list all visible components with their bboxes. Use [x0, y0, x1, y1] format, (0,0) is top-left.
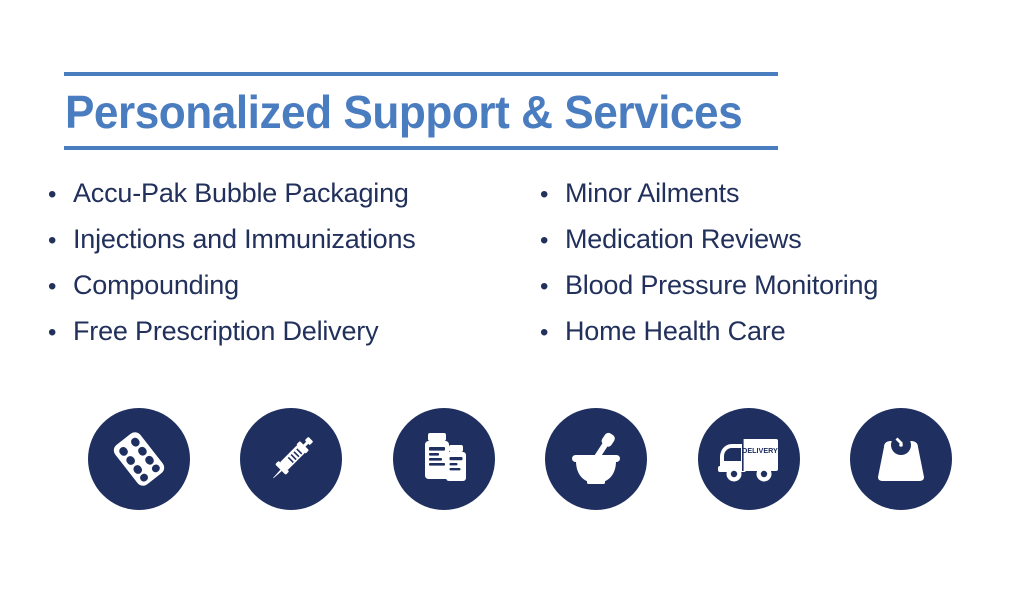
icon-badge-delivery-van: DELIVERY	[698, 408, 800, 510]
mortar-and-pestle-icon	[565, 428, 627, 490]
service-label: Medication Reviews	[565, 224, 802, 255]
bullet-icon: •	[540, 321, 565, 345]
pill-bottles-icon	[414, 429, 474, 489]
bullet-icon: •	[540, 275, 565, 299]
bullet-icon: •	[48, 183, 73, 207]
services-lists: • Accu-Pak Bubble Packaging • Injections…	[48, 178, 998, 362]
page-title: Personalized Support & Services	[64, 76, 749, 146]
weight-scale-icon	[871, 429, 931, 489]
bullet-icon: •	[48, 229, 73, 253]
list-item: • Free Prescription Delivery	[48, 316, 540, 362]
bullet-icon: •	[48, 275, 73, 299]
icon-badge-blister-pack	[88, 408, 190, 510]
service-label: Compounding	[73, 270, 239, 301]
service-label: Free Prescription Delivery	[73, 316, 378, 347]
services-column-left: • Accu-Pak Bubble Packaging • Injections…	[48, 178, 540, 362]
blister-pack-icon	[108, 428, 170, 490]
title-rule-bottom	[64, 146, 778, 150]
service-label: Blood Pressure Monitoring	[565, 270, 878, 301]
heading-block: Personalized Support & Services	[64, 72, 778, 150]
list-item: • Minor Ailments	[540, 178, 990, 224]
list-item: • Medication Reviews	[540, 224, 990, 270]
bullet-icon: •	[540, 229, 565, 253]
bullet-icon: •	[540, 183, 565, 207]
icon-badge-mortar-pestle	[545, 408, 647, 510]
icon-badge-syringe	[240, 408, 342, 510]
service-label: Minor Ailments	[565, 178, 739, 209]
syringe-icon	[260, 428, 322, 490]
service-label: Injections and Immunizations	[73, 224, 416, 255]
service-label: Home Health Care	[565, 316, 785, 347]
list-item: • Blood Pressure Monitoring	[540, 270, 990, 316]
icon-badge-pill-bottles	[393, 408, 495, 510]
service-label: Accu-Pak Bubble Packaging	[73, 178, 409, 209]
list-item: • Accu-Pak Bubble Packaging	[48, 178, 540, 224]
icon-badge-weight-scale	[850, 408, 952, 510]
van-delivery-text: DELIVERY	[742, 446, 778, 455]
bullet-icon: •	[48, 321, 73, 345]
icon-row: DELIVERY	[88, 408, 952, 510]
list-item: • Compounding	[48, 270, 540, 316]
list-item: • Home Health Care	[540, 316, 990, 362]
slide-canvas: Personalized Support & Services • Accu-P…	[0, 0, 1025, 590]
delivery-van-icon: DELIVERY	[716, 428, 782, 490]
services-column-right: • Minor Ailments • Medication Reviews • …	[540, 178, 990, 362]
list-item: • Injections and Immunizations	[48, 224, 540, 270]
